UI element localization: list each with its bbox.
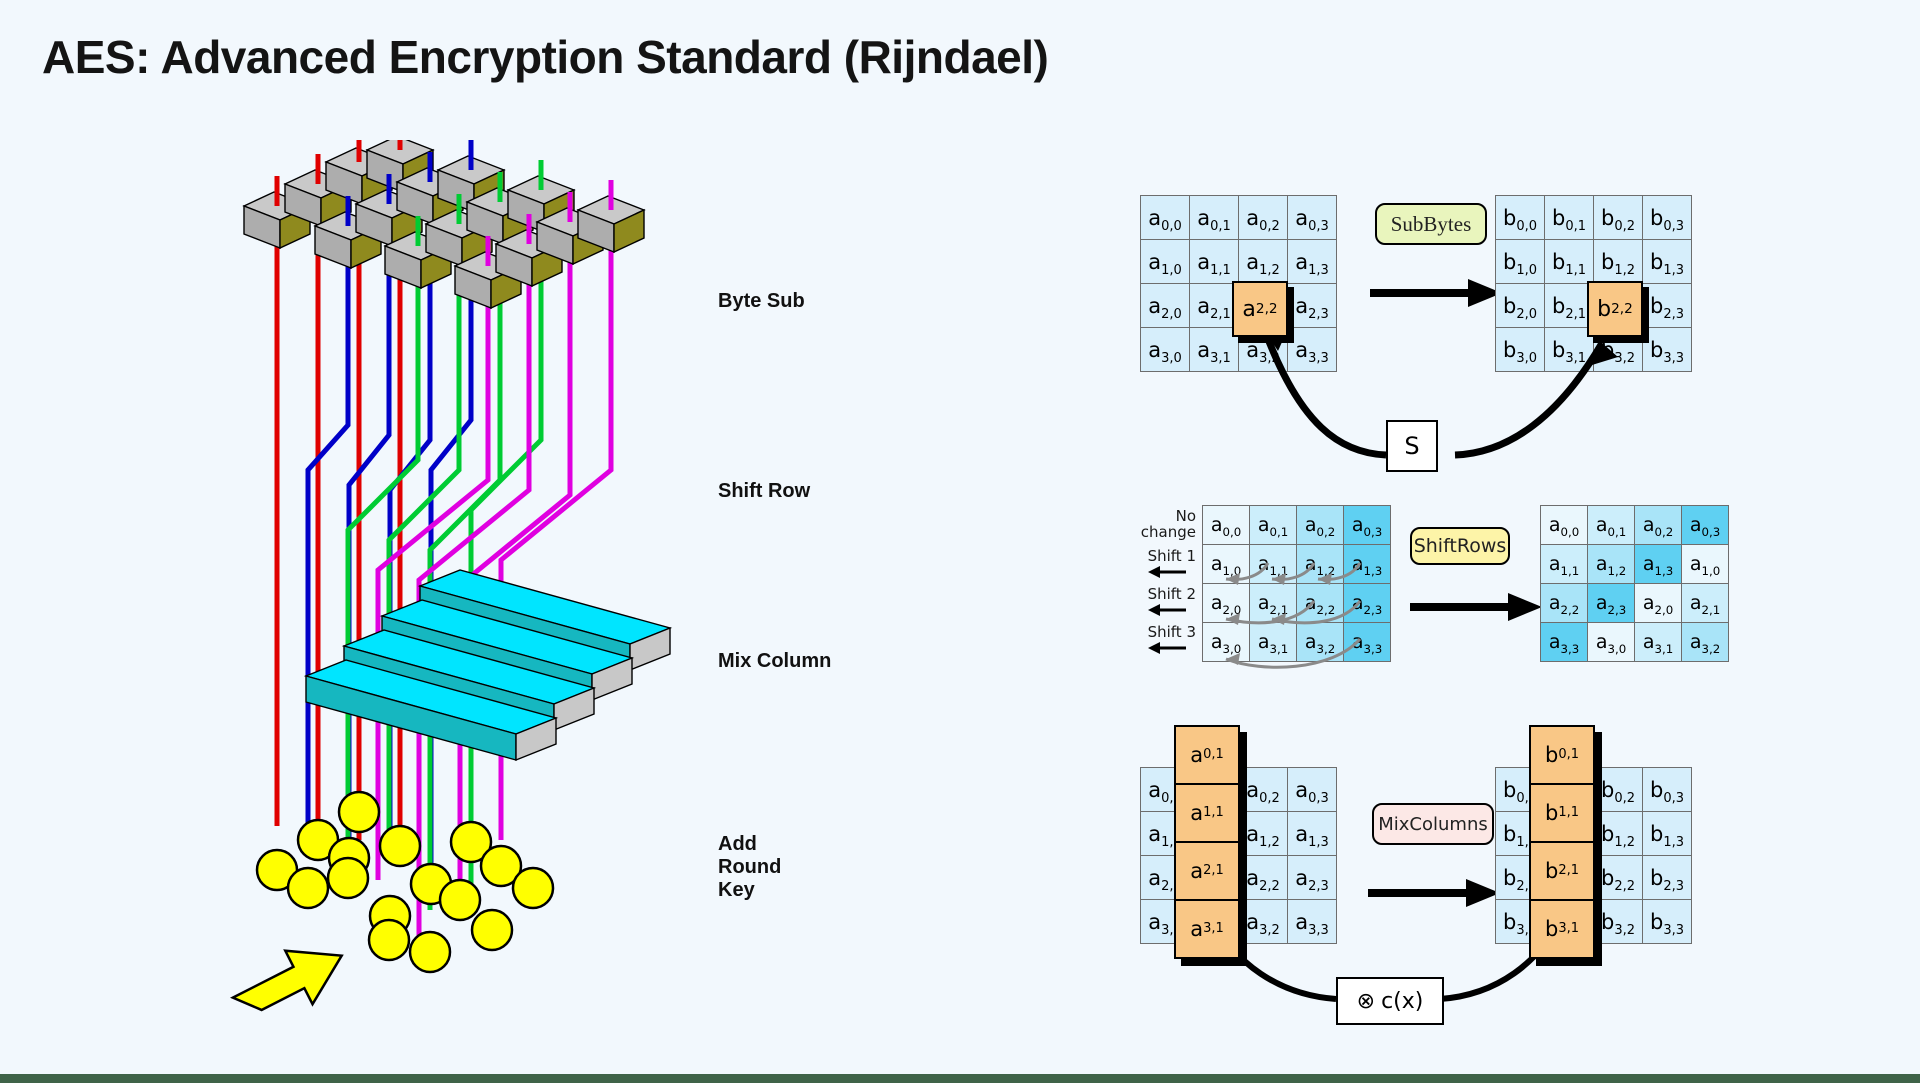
matrix-cell[interactable]: b1,2 (1594, 812, 1643, 856)
bottom-accent-bar (0, 1074, 1920, 1083)
stage-label-mix-column: Mix Column (718, 650, 831, 673)
matrix-cell[interactable]: a1,3 (1288, 812, 1337, 856)
slide-root: AES: Advanced Encryption Standard (Rijnd… (0, 0, 1920, 1083)
matrix-row: a0,0a0,1a0,2a0,3 (1141, 196, 1337, 240)
matrix-cell[interactable]: a3,3 (1541, 623, 1588, 662)
matrix-cell[interactable]: a2,2 (1541, 584, 1588, 623)
matrix-cell[interactable]: a0,0 (1541, 506, 1588, 545)
shiftrows-row-label-3: Shift 3 (1122, 625, 1196, 655)
matrix-cell[interactable]: b1,1 (1545, 240, 1594, 284)
shiftrows-row-label-0: No change (1122, 509, 1196, 541)
matrix-cell[interactable]: b2,3 (1643, 856, 1692, 900)
matrix-cell[interactable]: a0,2 (1239, 768, 1288, 812)
matrix-cell[interactable]: b0,0 (1496, 196, 1545, 240)
matrix-cell[interactable]: a1,3 (1288, 240, 1337, 284)
sbox-label-box[interactable]: S (1386, 420, 1438, 472)
mixcolumns-op-chip[interactable]: MixColumns (1372, 803, 1494, 845)
matrix-cell[interactable]: a3,0 (1588, 623, 1635, 662)
matrix-cell[interactable]: a0,2 (1635, 506, 1682, 545)
matrix-cell[interactable]: a0,0 (1141, 196, 1190, 240)
matrix-cell[interactable]: a3,1 (1635, 623, 1682, 662)
mixcolumns-input-highlight-cell[interactable]: a0,1 (1176, 727, 1238, 785)
matrix-cell[interactable]: a2,3 (1588, 584, 1635, 623)
shiftrows-row-label-2: Shift 2 (1122, 587, 1196, 617)
matrix-cell[interactable]: a2,3 (1288, 856, 1337, 900)
matrix-cell[interactable]: b1,3 (1643, 812, 1692, 856)
left-arrow-icon (1148, 603, 1188, 617)
shiftrows-arrow (1408, 587, 1548, 627)
mixcolumns-operator-box[interactable]: ⊗ c(x) (1336, 977, 1444, 1025)
matrix-cell[interactable]: a3,2 (1682, 623, 1729, 662)
matrix-cell[interactable]: a2,2 (1239, 856, 1288, 900)
tensor-icon: ⊗ (1357, 989, 1375, 1014)
shiftrows-op-chip[interactable]: ShiftRows (1410, 527, 1510, 565)
matrix-cell[interactable]: a2,1 (1682, 584, 1729, 623)
matrix-cell[interactable]: a0,3 (1288, 196, 1337, 240)
matrix-row: a1,0a1,1a1,2a1,3 (1141, 240, 1337, 284)
panel-mixcolumns: a0,0a0,1a0,2a0,3a1,0a1,1a1,2a1,3a2,0a2,1… (1140, 725, 1760, 1025)
matrix-row: b0,0b0,1b0,2b0,3 (1496, 196, 1692, 240)
matrix-cell[interactable]: b2,2 (1594, 856, 1643, 900)
stage-label-shift-row: Shift Row (718, 480, 810, 503)
matrix-cell[interactable]: a1,2 (1239, 240, 1288, 284)
cx-label: c(x) (1381, 989, 1423, 1014)
matrix-cell[interactable]: b1,2 (1594, 240, 1643, 284)
subbytes-input-highlight-cell[interactable]: a2,2 (1232, 281, 1288, 337)
matrix-cell[interactable]: a1,0 (1141, 240, 1190, 284)
matrix-cell[interactable]: a1,2 (1239, 812, 1288, 856)
shiftrows-rotation-arrows (1202, 505, 1402, 705)
mixcolumns-output-highlight-cell[interactable]: b2,1 (1531, 843, 1593, 901)
shiftrows-row-label-1: Shift 1 (1122, 549, 1196, 579)
matrix-cell[interactable]: a1,3 (1635, 545, 1682, 584)
matrix-row: a3,3a3,0a3,1a3,2 (1541, 623, 1729, 662)
matrix-cell[interactable]: a0,1 (1588, 506, 1635, 545)
matrix-cell[interactable]: b0,1 (1545, 196, 1594, 240)
matrix-row: a1,1a1,2a1,3a1,0 (1541, 545, 1729, 584)
mixcolumns-input-highlight-column[interactable]: a0,1a1,1a2,1a3,1 (1174, 725, 1240, 959)
matrix-cell[interactable]: b0,3 (1643, 196, 1692, 240)
matrix-cell[interactable]: a1,2 (1588, 545, 1635, 584)
subbytes-output-highlight-cell[interactable]: b2,2 (1587, 281, 1643, 337)
left-arrow-icon (1148, 641, 1188, 655)
matrix-cell[interactable]: a1,0 (1682, 545, 1729, 584)
matrix-cell[interactable]: a1,1 (1541, 545, 1588, 584)
stage-label-byte-sub: Byte Sub (718, 290, 805, 313)
matrix-cell[interactable]: b1,0 (1496, 240, 1545, 284)
matrix-row: a2,2a2,3a2,0a2,1 (1541, 584, 1729, 623)
aes-round-3d-illustration (230, 140, 700, 1060)
matrix-cell[interactable]: a0,3 (1288, 768, 1337, 812)
matrix-cell[interactable]: b0,3 (1643, 768, 1692, 812)
panel-subbytes: a0,0a0,1a0,2a0,3a1,0a1,1a1,2a1,3a2,0a2,1… (1140, 195, 1740, 455)
left-arrow-icon (1148, 565, 1188, 579)
subbytes-op-chip[interactable]: SubBytes (1375, 203, 1487, 245)
matrix-cell[interactable]: a0,3 (1682, 506, 1729, 545)
subbytes-sbox-curve (1140, 295, 1740, 435)
matrix-cell[interactable]: b1,3 (1643, 240, 1692, 284)
page-title: AES: Advanced Encryption Standard (Rijnd… (42, 30, 1048, 84)
matrix-cell[interactable]: a2,0 (1635, 584, 1682, 623)
mixcolumns-output-highlight-column[interactable]: b0,1b1,1b2,1b3,1 (1529, 725, 1595, 959)
matrix-cell[interactable]: a0,2 (1239, 196, 1288, 240)
panel-shiftrows: No changeShift 1Shift 2Shift 3 a0,0a0,1a… (1140, 505, 1760, 715)
stage-label-add-round-key: Add Round Key (718, 833, 781, 902)
shiftrows-output-matrix: a0,0a0,1a0,2a0,3a1,1a1,2a1,3a1,0a2,2a2,3… (1540, 505, 1729, 662)
mixcolumns-input-highlight-cell[interactable]: a3,1 (1176, 901, 1238, 957)
matrix-row: a0,0a0,1a0,2a0,3 (1541, 506, 1729, 545)
matrix-cell[interactable]: a1,1 (1190, 240, 1239, 284)
mixcolumns-input-highlight-cell[interactable]: a1,1 (1176, 785, 1238, 843)
mixcolumns-output-highlight-cell[interactable]: b1,1 (1531, 785, 1593, 843)
matrix-row: b1,0b1,1b1,2b1,3 (1496, 240, 1692, 284)
mixcolumns-output-highlight-cell[interactable]: b3,1 (1531, 901, 1593, 957)
matrix-cell[interactable]: b0,2 (1594, 768, 1643, 812)
matrix-cell[interactable]: a0,1 (1190, 196, 1239, 240)
mixcolumns-input-highlight-cell[interactable]: a2,1 (1176, 843, 1238, 901)
matrix-cell[interactable]: b0,2 (1594, 196, 1643, 240)
mixcolumns-output-highlight-cell[interactable]: b0,1 (1531, 727, 1593, 785)
direction-arrow (230, 929, 355, 1035)
